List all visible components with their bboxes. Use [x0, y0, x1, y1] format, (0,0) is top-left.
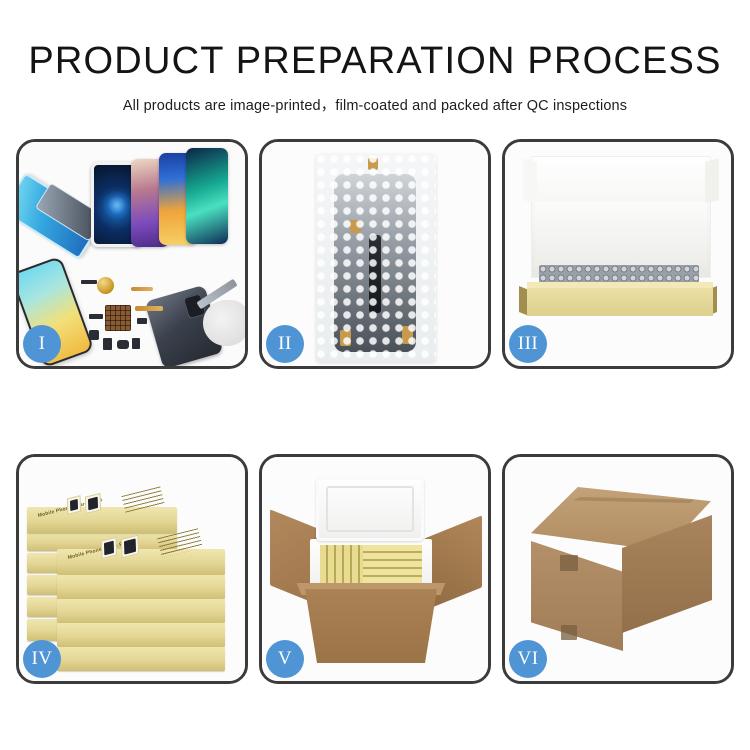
page-title: PRODUCT PREPARATION PROCESS — [0, 0, 750, 82]
process-step-grid: I II — [16, 139, 734, 684]
foam-sheet-icon — [535, 202, 707, 266]
process-step-panel-2[interactable]: II — [259, 139, 491, 369]
process-step-panel-4[interactable]: Mobile Phone Spare Parts Mobile Phone Sp… — [16, 454, 248, 684]
bubble-bag-icon — [316, 154, 436, 362]
carton-tape-icon — [561, 625, 577, 640]
step-badge-2: II — [266, 325, 304, 363]
part-bit-icon — [89, 314, 103, 319]
step-badge-1: I — [23, 325, 61, 363]
part-bit-icon — [81, 280, 97, 284]
stacked-box — [57, 623, 225, 647]
part-bit-icon — [89, 330, 99, 340]
process-step-panel-5[interactable]: V — [259, 454, 491, 684]
chip-component-icon — [105, 305, 131, 331]
process-step-panel-1[interactable]: I — [16, 139, 248, 369]
flex-cable-icon — [131, 287, 153, 291]
step-badge-3: III — [509, 325, 547, 363]
box-front-icon — [527, 288, 713, 316]
product-preparation-page: PRODUCT PREPARATION PROCESS All products… — [0, 0, 750, 750]
styrofoam-lid-icon — [316, 477, 424, 541]
box-label-window — [101, 537, 117, 559]
carton-tape-icon — [560, 555, 578, 571]
part-bit-icon — [117, 340, 129, 349]
packed-boxes-icon — [320, 545, 422, 589]
carton-front-icon — [296, 589, 446, 663]
part-bit-icon — [137, 318, 147, 324]
stacked-box — [57, 575, 225, 599]
step-badge-5: V — [266, 640, 304, 678]
box-label-window — [67, 495, 81, 515]
step-badge-6: VI — [509, 640, 547, 678]
bubble-texture — [316, 154, 436, 362]
header: PRODUCT PREPARATION PROCESS All products… — [0, 0, 750, 115]
flex-cable-icon — [135, 306, 163, 311]
step-badge-4: IV — [23, 640, 61, 678]
page-subtitle: All products are image-printed，film-coat… — [0, 82, 750, 115]
hand-icon — [203, 300, 245, 346]
box-stack: Mobile Phone Spare Parts Mobile Phone Sp… — [27, 483, 239, 673]
teal-phone-icon — [186, 148, 228, 244]
part-bit-icon — [103, 338, 112, 350]
part-bit-icon — [132, 338, 140, 349]
stacked-box — [57, 599, 225, 623]
coil-component-icon — [97, 277, 114, 294]
process-step-panel-6[interactable]: VI — [502, 454, 734, 684]
stacked-box — [57, 647, 225, 671]
process-step-panel-3[interactable]: III — [502, 139, 734, 369]
